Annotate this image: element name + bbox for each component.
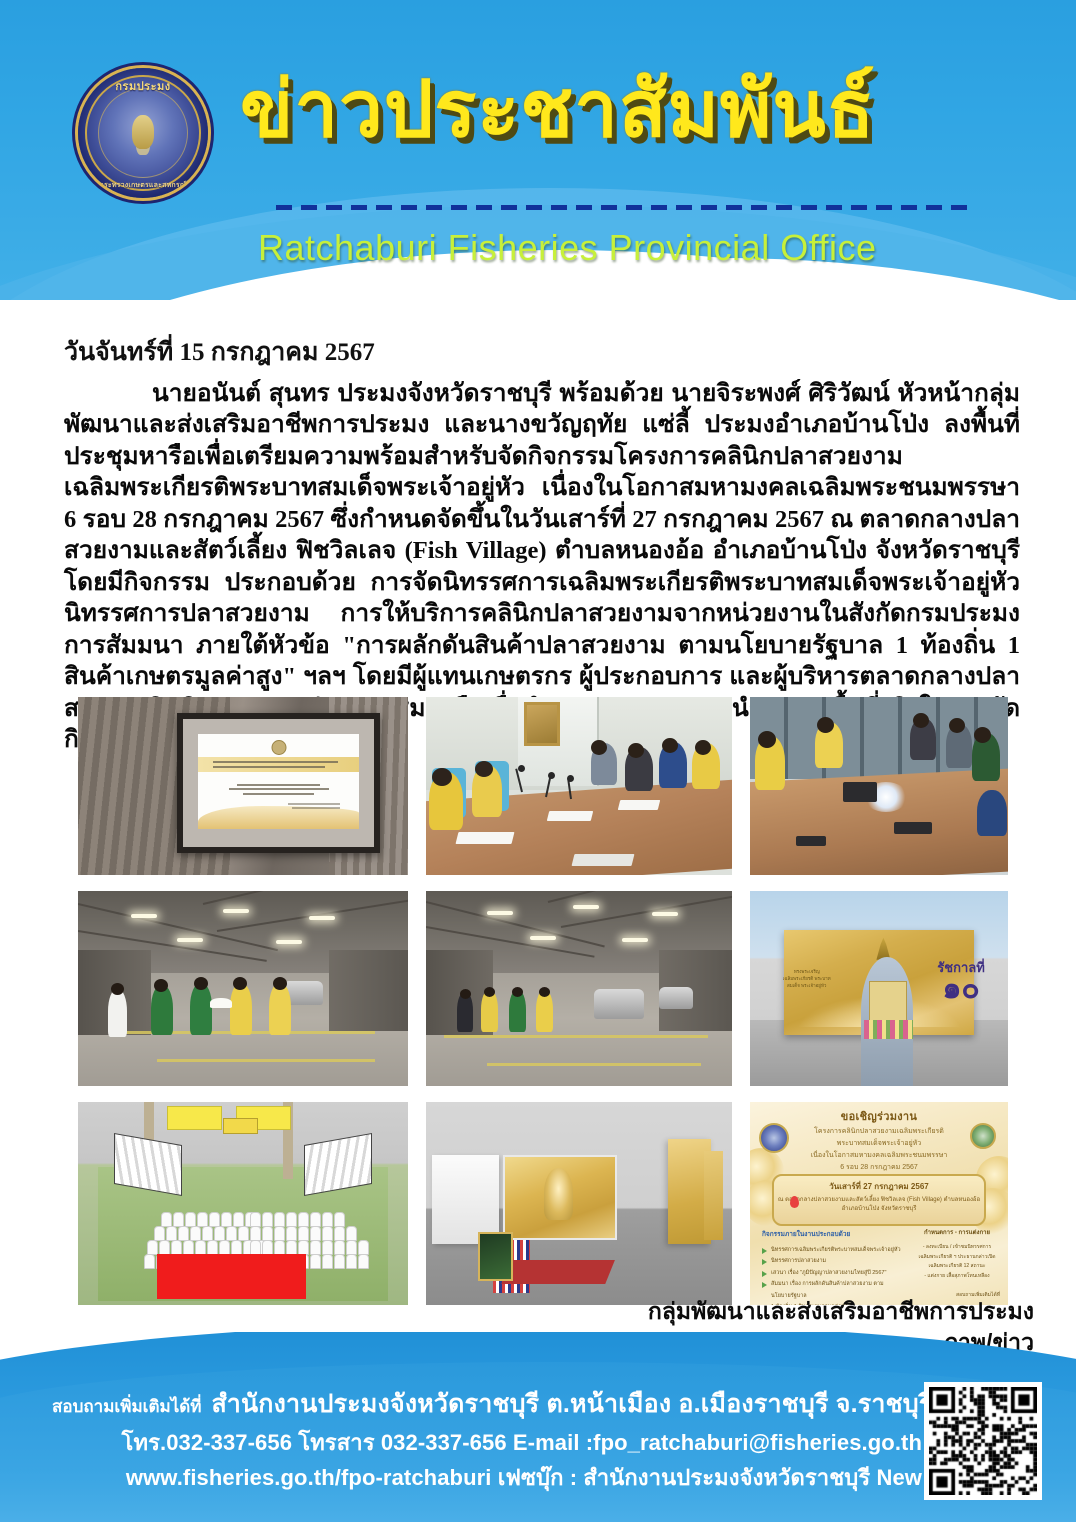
chair	[334, 1212, 345, 1227]
credit-department: กลุ่มพัฒนาและส่งเสริมอาชีพการประมง	[394, 1296, 1034, 1327]
attendee	[977, 790, 1007, 836]
chair	[274, 1212, 285, 1227]
inspector-head	[154, 979, 168, 992]
attendee-head	[695, 740, 711, 755]
inspector-head	[273, 977, 287, 990]
chair	[358, 1254, 369, 1269]
ceiling-light	[530, 936, 556, 940]
location-pin-icon	[790, 1196, 799, 1208]
poster-activities-title: กิจกรรมภายในงานประกอบด้วย	[762, 1228, 902, 1242]
ceiling-light	[276, 940, 302, 944]
poster-subtitle-3: เนื่องในโอกาสมหามงคลเฉลิมพระชนมพรรษา	[750, 1151, 1008, 1161]
poster-title: ขอเชิญร่วมงาน	[750, 1107, 1008, 1125]
chair	[250, 1240, 261, 1255]
chair-row	[250, 1226, 357, 1241]
slide-text-line	[229, 788, 329, 790]
slide-text-line	[213, 761, 338, 763]
rama-label: รัชกาลที่ ๑๐	[937, 961, 985, 1004]
floor-marking	[487, 1063, 701, 1066]
page-subtitle: Ratchaburi Fisheries Provincial Office	[258, 228, 1058, 268]
ceiling-light	[652, 912, 678, 916]
visitor-head	[539, 987, 550, 997]
chair	[250, 1212, 261, 1227]
chair	[166, 1226, 177, 1241]
visitor	[536, 990, 553, 1032]
chair	[190, 1226, 201, 1241]
chair	[202, 1226, 213, 1241]
qr-code[interactable]	[924, 1382, 1042, 1500]
slide-text-line	[288, 803, 339, 805]
attendee-head	[817, 717, 834, 733]
chair	[209, 1212, 220, 1227]
list-item: นิทรรศการปลาสวยงาม	[762, 1256, 902, 1268]
photo-render-gold-backdrop: ทรงพระเจริญ เฉลิมพระเกียรติ พระบาทสมเด็จ…	[750, 891, 1008, 1086]
poster-schedule-note: กำหนดการ - การแต่งกาย - ลงทะเบียน / เข้า…	[914, 1228, 1000, 1281]
chair	[147, 1240, 158, 1255]
footer-website-facebook: www.fisheries.go.th/fpo-ratchaburi เฟซบุ…	[52, 1460, 932, 1496]
chair-row	[250, 1240, 369, 1255]
footer-contact-block: สอบถามเพิ่มเติมได้ที่ สำนักงานประมงจังหว…	[52, 1384, 932, 1496]
inspector	[269, 983, 291, 1035]
aquarium-kiosk	[478, 1232, 513, 1281]
royal-portrait	[869, 981, 907, 1022]
chair	[322, 1226, 333, 1241]
parked-vehicle	[594, 989, 644, 1019]
visitor-head	[460, 989, 471, 999]
emblem-bottom-text: กระทรวงเกษตรและสหกรณ์	[78, 180, 208, 191]
laptop	[894, 822, 932, 834]
equipment-case	[796, 836, 826, 846]
chair	[226, 1226, 237, 1241]
photo-projector-slide	[78, 697, 408, 875]
poster-subtitle-4: 6 รอบ 28 กรกฎาคม 2567	[750, 1163, 1008, 1173]
chair	[298, 1226, 309, 1241]
backdrop-side-text: ทรงพระเจริญ เฉลิมพระเกียรติ พระบาทสมเด็จ…	[778, 969, 835, 989]
chair	[334, 1226, 345, 1241]
market-stall-right	[329, 950, 408, 1032]
attendee-head	[949, 718, 965, 733]
chair	[173, 1212, 184, 1227]
footer-contact-prefix: สอบถามเพิ่มเติมได้ที่	[52, 1397, 202, 1416]
floor-marking	[157, 1059, 375, 1062]
chair-row	[154, 1226, 261, 1241]
chair	[197, 1212, 208, 1227]
chair	[310, 1226, 321, 1241]
attendee-head	[758, 731, 776, 748]
chair	[195, 1240, 206, 1255]
exhibition-white-wall	[432, 1155, 499, 1244]
schedule-line: เฉลิมพระเกียรติ ฯ ประธานกล่าวเปิด	[914, 1253, 1000, 1263]
inspector	[151, 985, 173, 1035]
list-item: นิทรรศการเฉลิมพระเกียรติพระบาทสมเด็จพระเ…	[762, 1245, 902, 1257]
photo-meeting-room-right	[750, 697, 1008, 875]
schedule-line: - แต่งกาย เสื้อสุภาพโทนเหลือง	[914, 1272, 1000, 1282]
chair	[233, 1212, 244, 1227]
ceiling-light	[573, 905, 599, 909]
chair	[214, 1226, 225, 1241]
list-item: เสวนา เรื่อง "ภูมิปัญญาปลาสวยงามไทยสู่ปี…	[762, 1268, 902, 1280]
chair	[219, 1240, 230, 1255]
chair	[154, 1226, 165, 1241]
document-sheet	[571, 854, 634, 866]
chair	[346, 1254, 357, 1269]
visitor	[509, 990, 526, 1032]
footer-office-address: สำนักงานประมงจังหวัดราชบุรี ต.หน้าเมือง …	[202, 1390, 1011, 1418]
chair	[322, 1240, 333, 1255]
chair	[144, 1254, 155, 1269]
department-of-fisheries-emblem-icon: กรมประมง กระทรวงเกษตรและสหกรณ์	[78, 68, 208, 198]
chair	[298, 1212, 309, 1227]
ceiling-light	[223, 909, 249, 913]
chair	[346, 1226, 357, 1241]
ceiling-light	[131, 914, 157, 918]
chair-row	[250, 1212, 345, 1227]
chair	[310, 1240, 321, 1255]
inspector-head	[233, 977, 247, 990]
schedule-line: เฉลิมพระเกียรติ 12 สถานะ	[914, 1262, 1000, 1272]
floor-marking	[444, 1035, 707, 1038]
news-bulletin-page: กรมประมง กระทรวงเกษตรและสหกรณ์ ข่าวประชา…	[0, 0, 1076, 1522]
poster-date-plaque: วันเสาร์ที่ 27 กรกฎาคม 2567 ณ ตลาดกลางปล…	[772, 1174, 986, 1226]
red-stage-carpet	[157, 1254, 306, 1299]
chair	[310, 1254, 321, 1269]
inspector	[108, 989, 127, 1037]
document-sheet	[455, 832, 514, 844]
photo-invitation-poster: ขอเชิญร่วมงาน โครงการคลินิกปลาสวยงามเฉลิ…	[750, 1102, 1008, 1305]
attendee-head	[662, 738, 678, 753]
chair	[334, 1240, 345, 1255]
poster-subtitle-1: โครงการคลินิกปลาสวยงามเฉลิมพระเกียรติ	[750, 1127, 1008, 1137]
slide-text-line	[237, 784, 321, 786]
chair	[358, 1240, 369, 1255]
ceiling-light	[309, 916, 335, 920]
publication-date: วันจันทร์ที่ 15 กรกฎาคม 2567	[64, 332, 375, 372]
chair	[334, 1254, 345, 1269]
document-sheet	[547, 811, 593, 821]
ceiling-light	[622, 938, 648, 942]
chair	[298, 1240, 309, 1255]
slide-text-line	[213, 766, 326, 768]
microphone-head	[518, 765, 525, 772]
poster-activities-list: กิจกรรมภายในงานประกอบด้วย นิทรรศการเฉลิม…	[762, 1228, 902, 1305]
chair	[231, 1240, 242, 1255]
flower-decoration	[864, 1020, 913, 1040]
chair	[250, 1226, 261, 1241]
chair	[262, 1240, 273, 1255]
chair	[221, 1212, 232, 1227]
gold-entrance-panel-2	[704, 1151, 722, 1240]
projected-slide	[198, 734, 359, 829]
schedule-line: - ลงทะเบียน / เข้าชมนิทรรศการ	[914, 1243, 1000, 1253]
inspector	[190, 983, 212, 1035]
chair	[286, 1226, 297, 1241]
chair	[286, 1240, 297, 1255]
chair	[171, 1240, 182, 1255]
inspector-head	[111, 983, 124, 995]
photo-render-exhibition-booth	[426, 1102, 732, 1305]
page-title: ข่าวประชาสัมพันธ์	[240, 70, 1040, 148]
exhibition-led-screen	[503, 1155, 617, 1240]
footer-phone-email: โทร.032-337-656 โทรสาร 032-337-656 E-mai…	[52, 1425, 932, 1461]
attendee-head	[913, 713, 929, 728]
chair	[274, 1240, 285, 1255]
poster-schedule-title: กำหนดการ - การแต่งกาย	[914, 1228, 1000, 1239]
inspector-head	[194, 977, 208, 990]
chair	[161, 1212, 172, 1227]
footer-address-row: สอบถามเพิ่มเติมได้ที่ สำนักงานประมงจังหว…	[52, 1384, 932, 1425]
ceiling-light	[177, 938, 203, 942]
chair	[183, 1240, 194, 1255]
poster-subtitle-2: พระบาทสมเด็จพระเจ้าอยู่หัว	[750, 1139, 1008, 1149]
yellow-backdrop-left	[167, 1106, 222, 1130]
photo-market-inspection-group	[78, 891, 408, 1086]
emblem-top-text: กรมประมง	[78, 77, 208, 95]
chair	[262, 1212, 273, 1227]
poster-header: ขอเชิญร่วมงาน โครงการคลินิกปลาสวยงามเฉลิ…	[750, 1107, 1008, 1174]
chair	[159, 1240, 170, 1255]
photo-render-seating-plan	[78, 1102, 408, 1305]
visitor-head	[512, 987, 523, 997]
poster-event-date: วันเสาร์ที่ 27 กรกฎาคม 2567	[774, 1180, 984, 1193]
chair	[286, 1212, 297, 1227]
ceiling-light	[487, 911, 513, 915]
stage-gold-table	[223, 1118, 258, 1134]
visitor-head	[484, 987, 495, 997]
page-footer: สอบถามเพิ่มเติมได้ที่ สำนักงานประมงจังหว…	[0, 1332, 1076, 1522]
emblem-deity-figure	[132, 115, 154, 149]
held-document	[210, 998, 232, 1008]
qr-code-image	[929, 1387, 1037, 1495]
red-carpet	[501, 1260, 615, 1284]
chair	[346, 1240, 357, 1255]
poster-event-venue: ณ ตลาดกลางปลาสวยงามและสัตว์เลี้ยง ฟิชวิล…	[774, 1196, 984, 1214]
chair	[310, 1212, 321, 1227]
photo-market-hall-interior	[426, 891, 732, 1086]
inspector	[230, 983, 252, 1035]
attendee-head	[591, 740, 607, 755]
slide-text-line	[292, 807, 340, 809]
royal-portrait-frame	[524, 702, 560, 746]
rama-label-line2: ๑๐	[937, 974, 985, 1004]
projection-screen-frame	[177, 713, 380, 853]
slide-seal-icon	[271, 740, 286, 755]
chair	[238, 1226, 249, 1241]
slide-bottom-wave	[198, 806, 359, 829]
royal-image	[544, 1168, 573, 1220]
visitor	[481, 990, 498, 1032]
chair	[274, 1226, 285, 1241]
chair	[262, 1226, 273, 1241]
photo-meeting-room-left	[426, 697, 732, 875]
chair-row	[161, 1212, 256, 1227]
parked-vehicle	[659, 987, 693, 1009]
page-header: กรมประมง กระทรวงเกษตรและสหกรณ์ ข่าวประชา…	[0, 0, 1076, 300]
chair	[322, 1254, 333, 1269]
photo-grid: ทรงพระเจริญ เฉลิมพระเกียรติ พระบาทสมเด็จ…	[78, 697, 998, 1305]
chair	[185, 1212, 196, 1227]
title-dashed-divider	[276, 205, 976, 210]
chair	[322, 1212, 333, 1227]
laptop	[843, 782, 877, 802]
chair-row	[147, 1240, 266, 1255]
chair	[207, 1240, 218, 1255]
attendee-head	[475, 761, 493, 777]
document-sheet	[618, 800, 660, 810]
chair	[178, 1226, 189, 1241]
slide-text-line	[243, 793, 314, 795]
